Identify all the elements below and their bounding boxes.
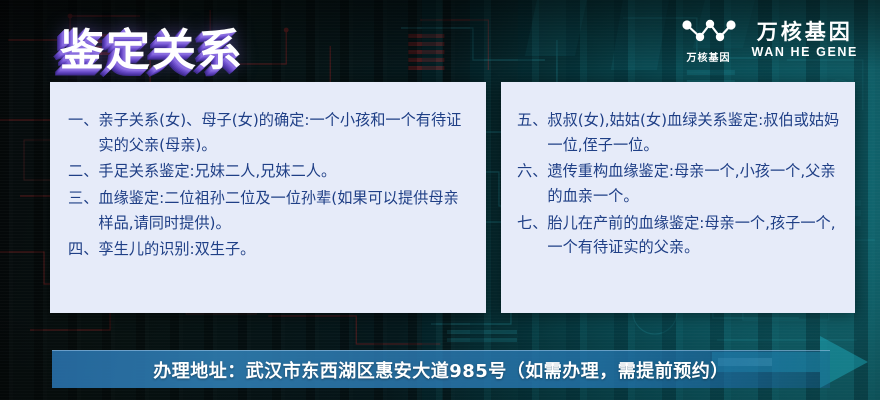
list-item: 四、 孪生儿的识别:双生子。	[68, 237, 470, 262]
list-item: 一、 亲子关系(女)、母子(女)的确定:一个小孩和一个有待证实的父亲(母亲)。	[68, 108, 470, 157]
molecule-icon	[680, 16, 738, 46]
list-item-text: 血缘鉴定:二位祖孙二位及一位孙辈(如果可以提供母亲样品,请同时提供)。	[98, 186, 470, 235]
list-item-text: 孪生儿的识别:双生子。	[98, 237, 470, 262]
list-item-number: 二、	[68, 159, 98, 184]
list-item: 七、 胎儿在产前的血缘鉴定:母亲一个,孩子一个,一个有待证实的父亲。	[517, 211, 841, 260]
list-item: 六、 遗传重构血缘鉴定:母亲一个,小孩一个,父亲的血亲一个。	[517, 159, 841, 208]
list-item-text: 叔叔(女),姑姑(女)血绿关系鉴定:叔伯或姑妈一位,侄子一位。	[547, 108, 841, 157]
list-item-number: 三、	[68, 186, 98, 211]
list-item: 三、 血缘鉴定:二位祖孙二位及一位孙辈(如果可以提供母亲样品,请同时提供)。	[68, 186, 470, 235]
list-item-text: 手足关系鉴定:兄妹二人,兄妹二人。	[98, 159, 470, 184]
list-item-number: 四、	[68, 237, 98, 262]
list-item-number: 七、	[517, 211, 547, 236]
brand-logo: 万核基因 万核基因 WAN HE GENE	[680, 16, 859, 64]
page-title: 鉴定关系	[60, 14, 244, 78]
brand-mark-label: 万核基因	[687, 49, 731, 64]
brand-wordmark: 万核基因 WAN HE GENE	[752, 21, 859, 59]
info-list-left: 一、 亲子关系(女)、母子(女)的确定:一个小孩和一个有待证实的父亲(母亲)。 …	[50, 82, 486, 262]
bottom-notice-bar: 办理地址：武汉市东西湖区惠安大道985号（如需办理，需提前预约）	[52, 350, 830, 388]
info-panel-right: 五、 叔叔(女),姑姑(女)血绿关系鉴定:叔伯或姑妈一位,侄子一位。 六、 遗传…	[501, 82, 855, 313]
list-item: 五、 叔叔(女),姑姑(女)血绿关系鉴定:叔伯或姑妈一位,侄子一位。	[517, 108, 841, 157]
list-item-number: 六、	[517, 159, 547, 184]
list-item: 二、 手足关系鉴定:兄妹二人,兄妹二人。	[68, 159, 470, 184]
brand-name-en: WAN HE GENE	[752, 45, 859, 59]
list-item-text: 胎儿在产前的血缘鉴定:母亲一个,孩子一个,一个有待证实的父亲。	[547, 211, 841, 260]
info-list-right: 五、 叔叔(女),姑姑(女)血绿关系鉴定:叔伯或姑妈一位,侄子一位。 六、 遗传…	[501, 82, 855, 260]
list-item-text: 遗传重构血缘鉴定:母亲一个,小孩一个,父亲的血亲一个。	[547, 159, 841, 208]
list-item-number: 一、	[68, 108, 98, 133]
brand-name-cn: 万核基因	[757, 21, 853, 44]
brand-mark: 万核基因	[680, 16, 738, 64]
poster-canvas: 鉴定关系 万核基因 万核基因	[0, 0, 880, 400]
info-panel-left: 一、 亲子关系(女)、母子(女)的确定:一个小孩和一个有待证实的父亲(母亲)。 …	[50, 82, 486, 313]
list-item-number: 五、	[517, 108, 547, 133]
list-item-text: 亲子关系(女)、母子(女)的确定:一个小孩和一个有待证实的父亲(母亲)。	[98, 108, 470, 157]
bottom-notice-text: 办理地址：武汉市东西湖区惠安大道985号（如需办理，需提前预约）	[153, 357, 729, 383]
